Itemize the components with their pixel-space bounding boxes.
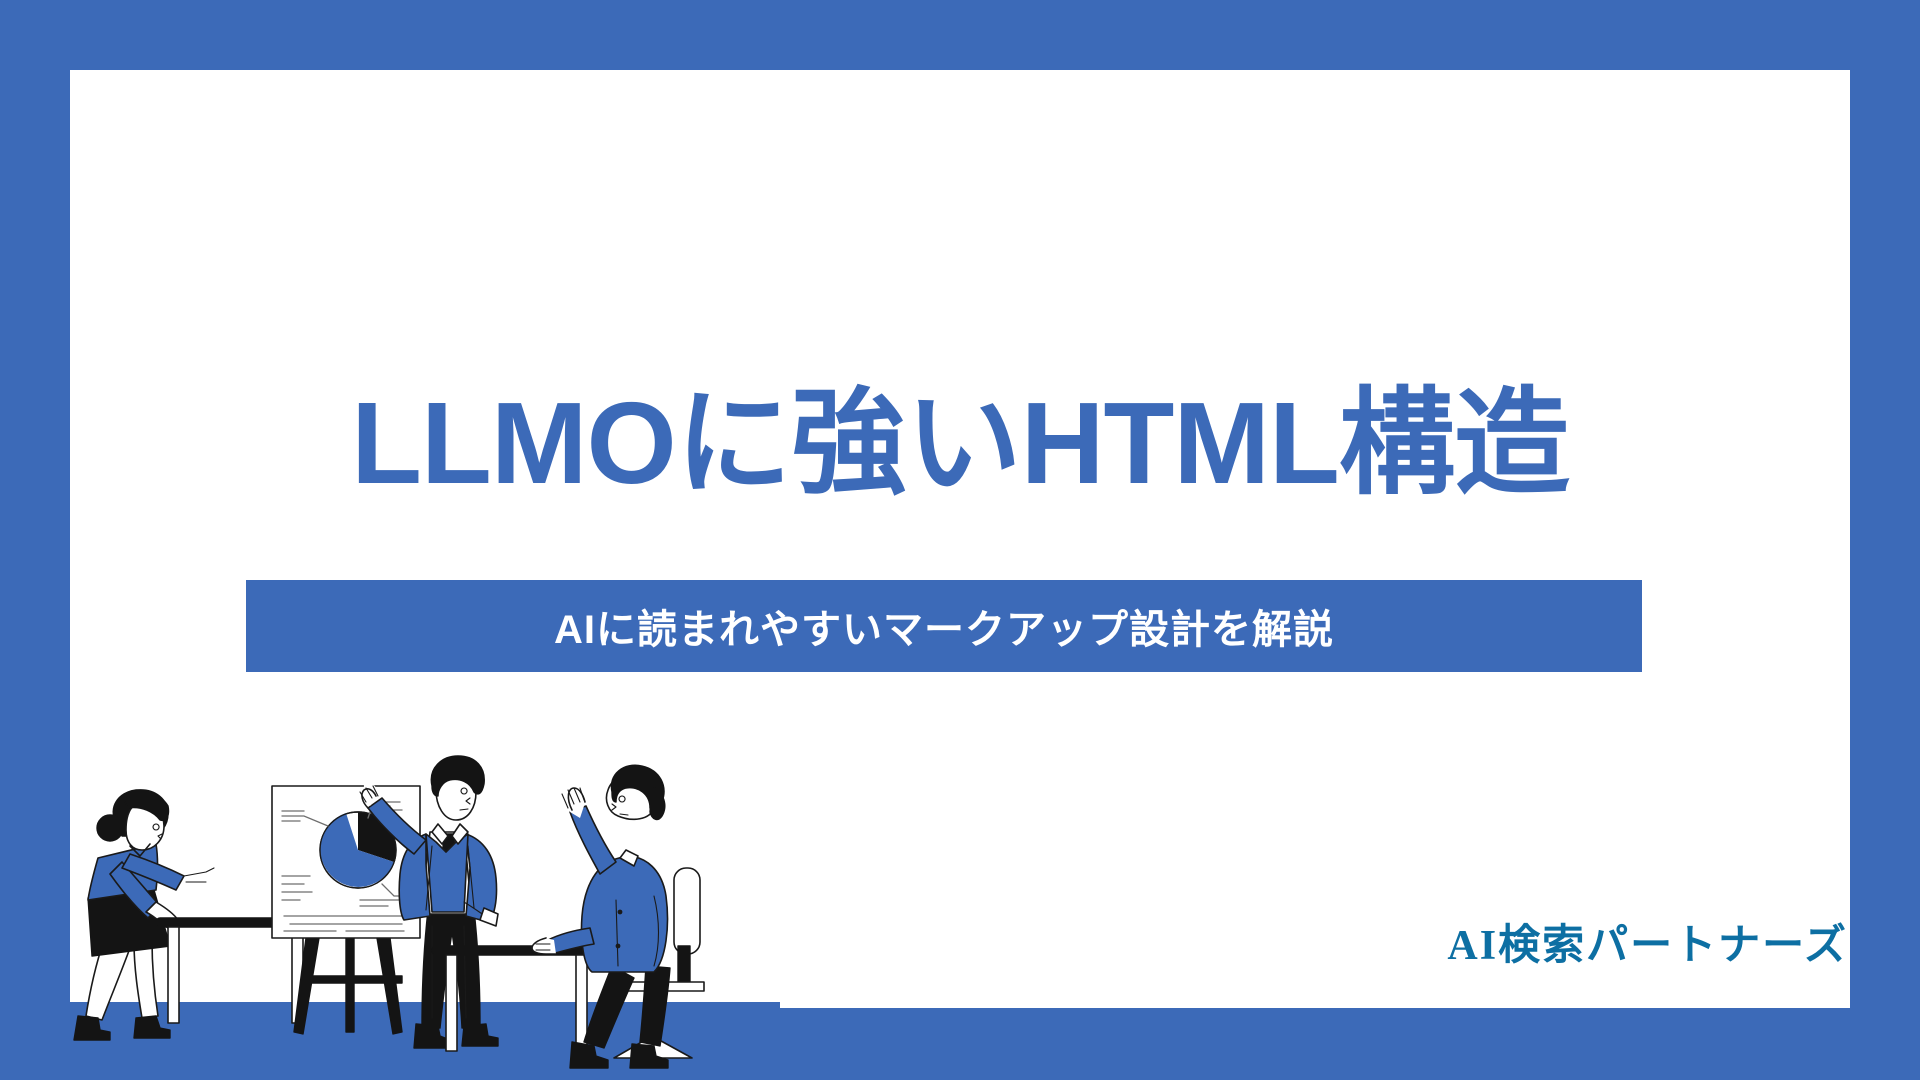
subtitle-band: AIに読まれやすいマークアップ設計を解説 xyxy=(246,580,1642,672)
slide-subtitle: AIに読まれやすいマークアップ設計を解説 xyxy=(554,597,1334,655)
brand-name: AI検索パートナーズ xyxy=(1447,911,1848,972)
business-team-presentation-illustration: .ln{fill:none;stroke:#1a1a1a;stroke-widt… xyxy=(60,750,780,1080)
slide-canvas: .ln{fill:none;stroke:#1a1a1a;stroke-widt… xyxy=(0,0,1920,1080)
